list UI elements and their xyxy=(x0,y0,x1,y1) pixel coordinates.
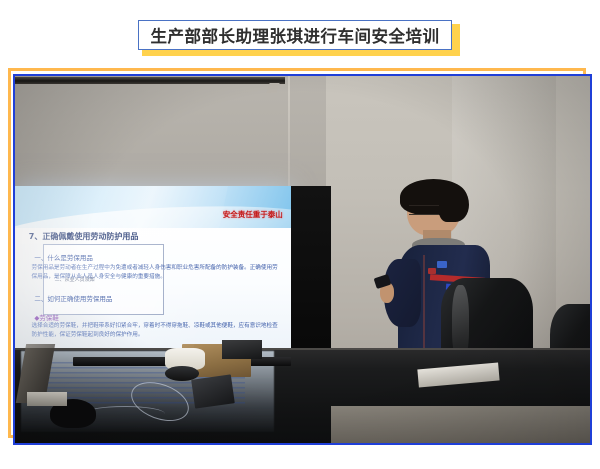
conference-table-edge xyxy=(15,348,590,350)
dark-object-on-box xyxy=(222,340,262,358)
page-title: 生产部部长助理张琪进行车间安全培训 xyxy=(151,23,440,47)
title-box: 生产部部长助理张琪进行车间安全培训 xyxy=(138,20,452,50)
presenter-glasses xyxy=(409,205,439,215)
presenter-jacket-logo xyxy=(437,261,447,269)
presenter-hair-back xyxy=(439,184,469,222)
left-stand-base xyxy=(27,392,67,407)
photo-frame: 二、从业人员须知 安全责任重于泰山 7、正确佩戴使用劳动防护用品 一、什么是劳保… xyxy=(8,68,592,445)
slide-body-1: 劳保用品是劳动者在生产过程中为免遭或者减轻人身伤害和职业危害所配备的防护装备。正… xyxy=(32,264,280,282)
presenter-jacket-zipper xyxy=(423,255,425,360)
photo-frame-inner-border: 二、从业人员须知 安全责任重于泰山 7、正确佩戴使用劳动防护用品 一、什么是劳保… xyxy=(13,74,592,445)
projection-screen: 二、从业人员须知 安全责任重于泰山 7、正确佩戴使用劳动防护用品 一、什么是劳保… xyxy=(15,186,291,347)
slide-heading: 7、正确佩戴使用劳动防护用品 xyxy=(29,231,139,242)
dark-box-object xyxy=(191,374,235,409)
slide-bullet-1: ◆劳保鞋 xyxy=(34,312,59,322)
ceiling-projector-rail xyxy=(15,77,285,84)
slide-banner-slogan: 安全责任重于泰山 xyxy=(223,209,283,220)
slide-body-2: 选择合适的劳保鞋，并把鞋带系好扣紧合牢，穿着时不得穿拖鞋、凉鞋或其他便鞋，应有意… xyxy=(32,322,280,340)
slide-section-1: 一、什么是劳保用品 xyxy=(34,252,93,262)
slide-section-2: 二、如何正确使用劳保用品 xyxy=(34,293,112,303)
page-title-area: 生产部部长助理张琪进行车间安全培训 xyxy=(0,0,600,60)
computer-mouse xyxy=(165,366,200,381)
training-photo: 二、从业人员须知 安全责任重于泰山 7、正确佩戴使用劳动防护用品 一、什么是劳保… xyxy=(15,76,590,443)
slide-banner xyxy=(15,186,291,228)
cable-strand xyxy=(84,406,165,422)
table-front-edge xyxy=(331,406,590,443)
dark-wall-panel xyxy=(291,186,331,362)
presenter-jacket-logo-secondary xyxy=(428,268,436,274)
